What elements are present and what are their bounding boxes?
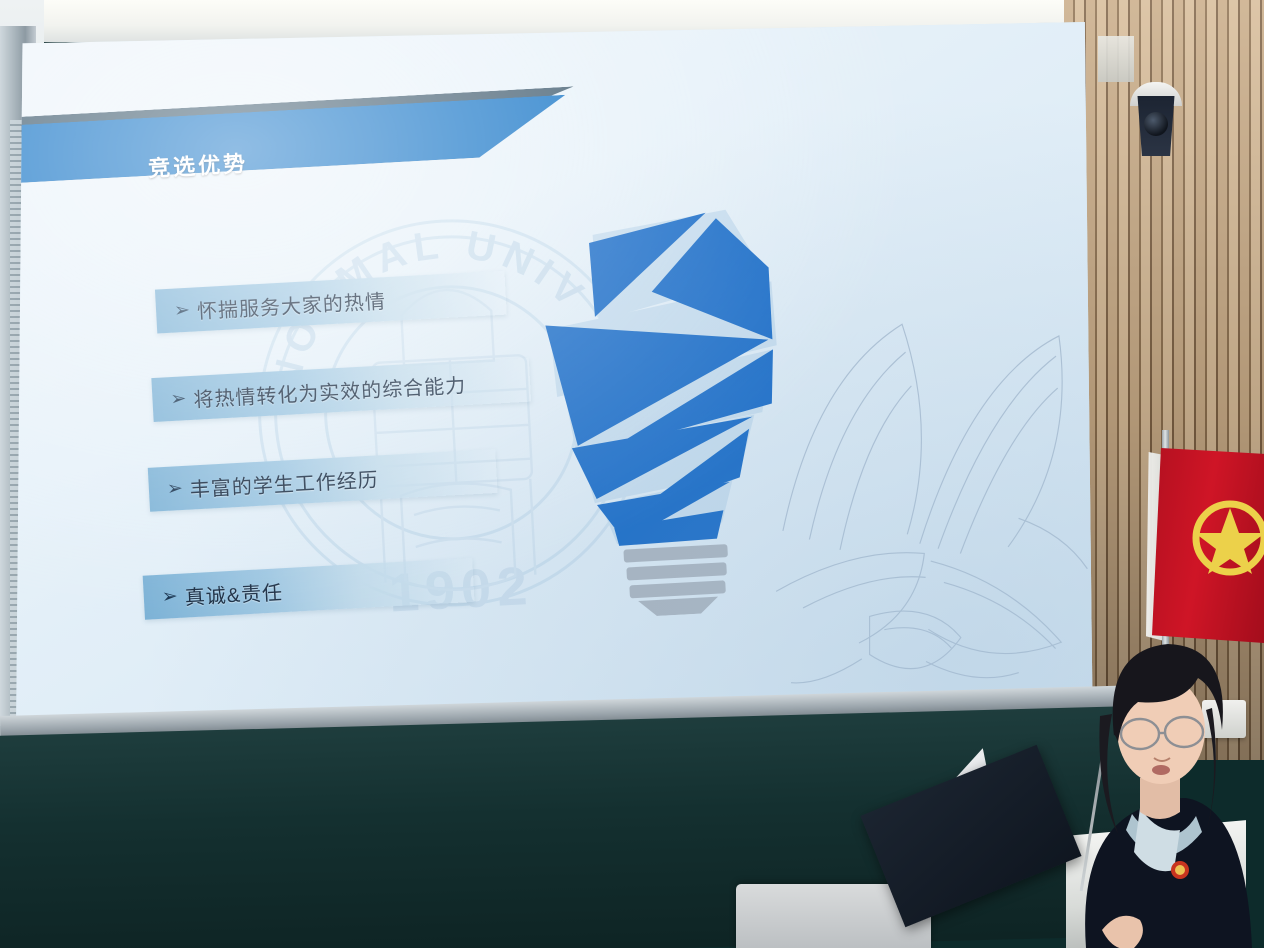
projector-screen: NORMAL UNIV 1902 <box>16 22 1100 734</box>
bullet-text-1: 怀揣服务大家的热情 <box>197 284 387 323</box>
lightbulb-ribbon-graphic <box>529 188 811 621</box>
bullet-arrow-icon: ➢ <box>174 300 191 320</box>
bullet-text-4: 真诚&责任 <box>184 575 284 609</box>
wall-plate <box>1098 36 1134 82</box>
bullet-text-3: 丰富的学生工作经历 <box>189 463 379 502</box>
slide-bullet-4: ➢ 真诚&责任 <box>143 558 475 620</box>
photo-scene: NORMAL UNIV 1902 <box>0 0 1264 948</box>
bullet-arrow-icon: ➢ <box>170 389 187 409</box>
university-seal-watermark: NORMAL UNIV 1902 <box>243 143 661 703</box>
presenter <box>1028 618 1258 948</box>
slide-bullet-2: ➢ 将热情转化为实效的综合能力 <box>152 357 532 421</box>
bullet-arrow-icon: ➢ <box>162 586 179 606</box>
flag-emblem-icon <box>1152 448 1264 643</box>
bullet-text-2: 将热情转化为实效的综合能力 <box>193 368 467 412</box>
communist-youth-league-flag <box>1152 448 1264 643</box>
bullet-arrow-icon: ➢ <box>167 478 184 498</box>
slide-title: 竞选优势 <box>148 146 250 183</box>
slide-bullet-1: ➢ 怀揣服务大家的热情 <box>155 270 507 333</box>
slide-bullet-3: ➢ 丰富的学生工作经历 <box>148 449 498 512</box>
presentation-slide: NORMAL UNIV 1902 <box>0 0 1131 763</box>
security-camera-lens-icon <box>1144 112 1168 136</box>
